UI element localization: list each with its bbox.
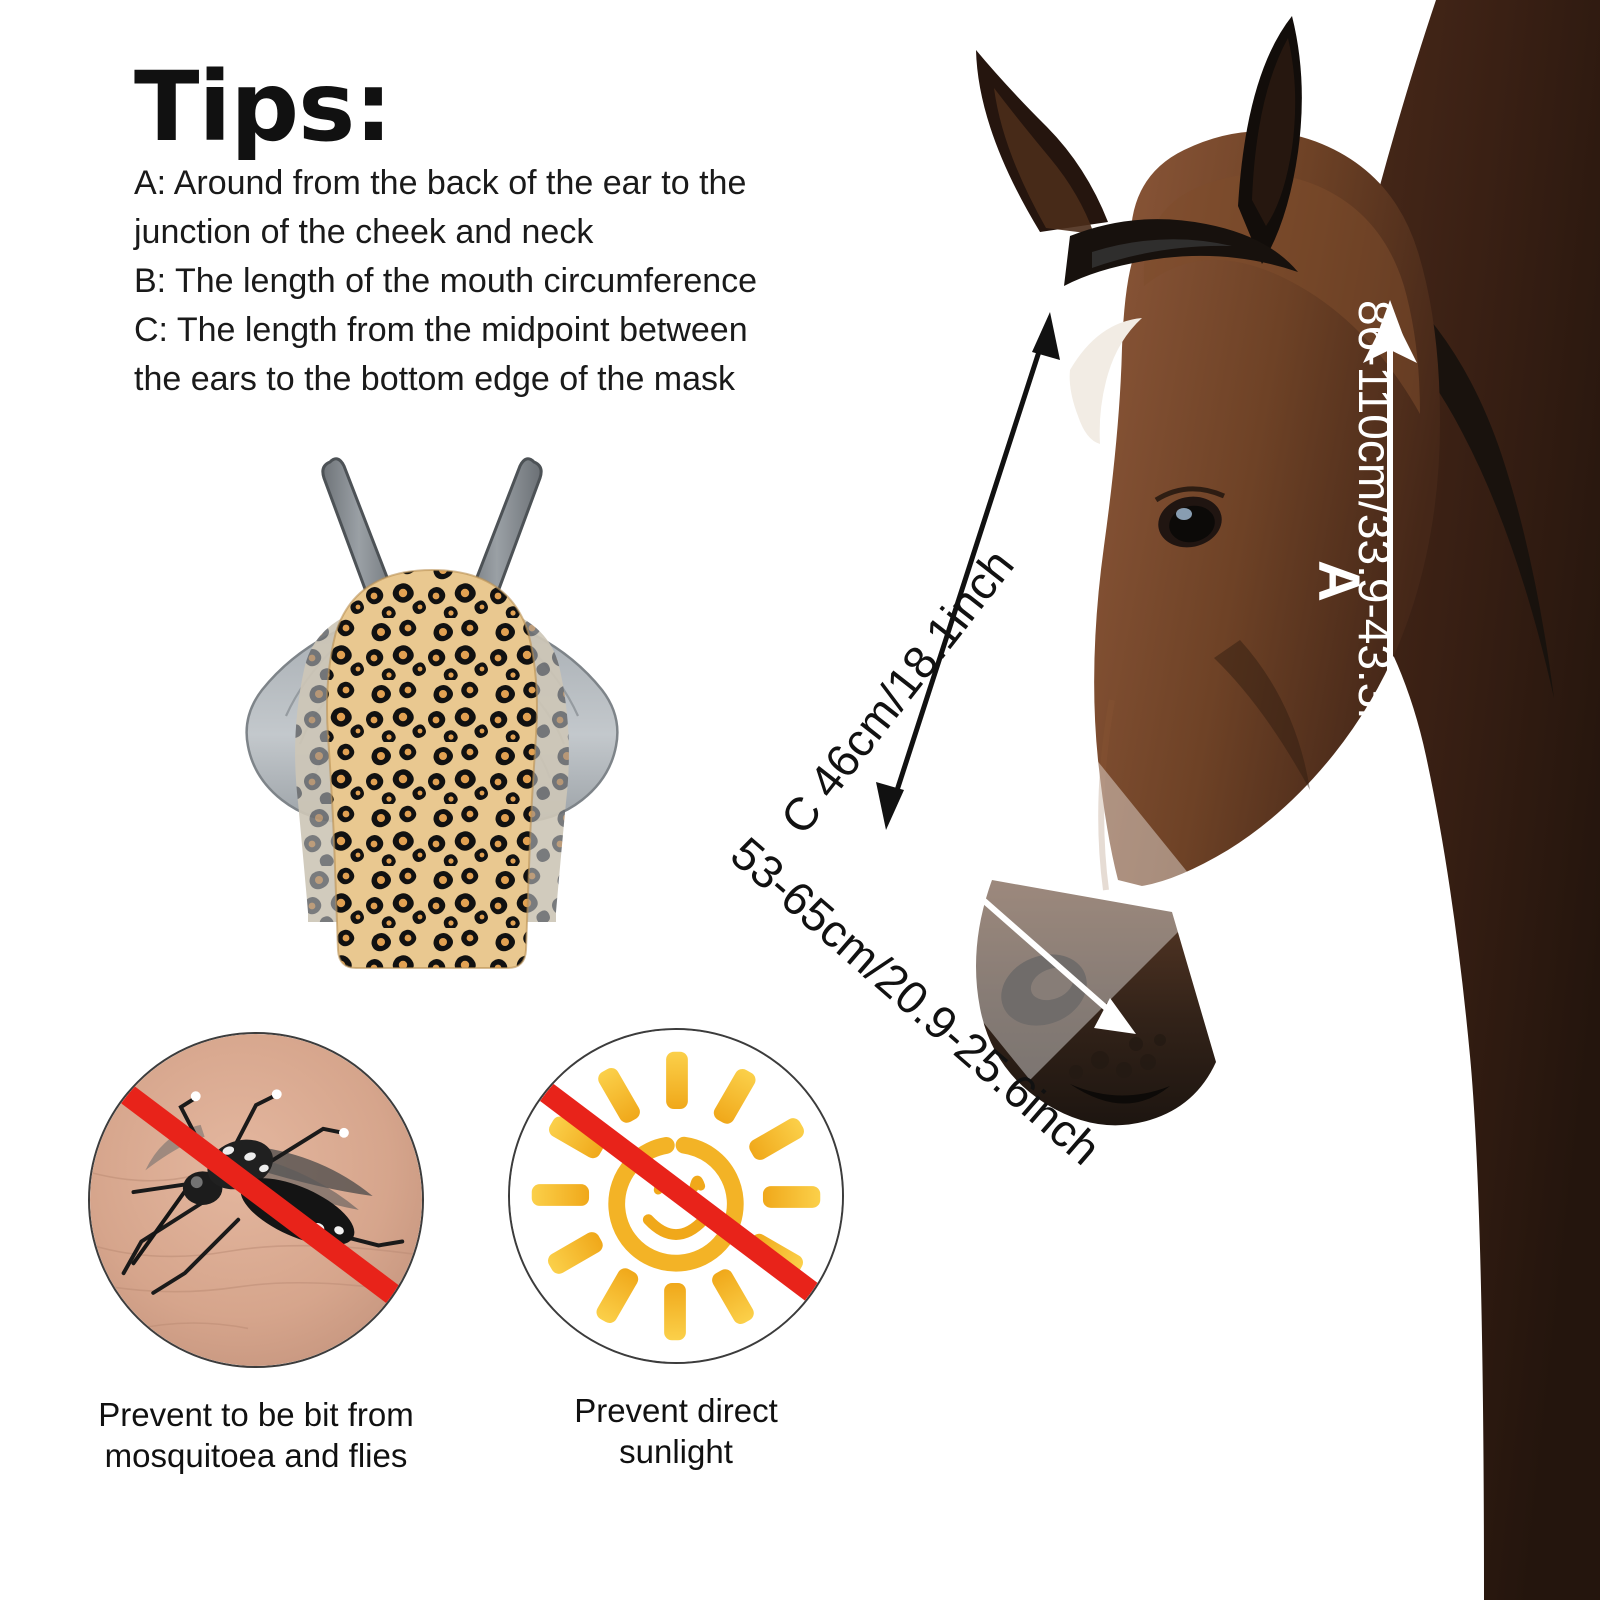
- page-title: Tips:: [134, 62, 834, 153]
- benefit-caption: Prevent to be bit from mosquitoea and fl…: [88, 1394, 424, 1476]
- tip-line: the ears to the bottom edge of the mask: [134, 355, 834, 404]
- mask-front-panel: [320, 562, 544, 1012]
- horse-measurement-diagram: [740, 0, 1600, 1600]
- benefit-mosquito: Prevent to be bit from mosquitoea and fl…: [88, 1032, 424, 1476]
- measurement-label-a: 86-110cm/33.9-43.3inch: [1348, 300, 1402, 793]
- tip-line: A: Around from the back of the ear to th…: [134, 159, 834, 208]
- tip-line: B: The length of the mouth circumference: [134, 257, 834, 306]
- tip-line: C: The length from the midpoint between: [134, 306, 834, 355]
- tips-lines: A: Around from the back of the ear to th…: [134, 159, 834, 404]
- product-size-infographic: Tips: A: Around from the back of the ear…: [0, 0, 1600, 1600]
- fly-mask-product-image: [240, 432, 624, 1012]
- benefit-circle: [88, 1032, 424, 1368]
- measurement-letter-a: A: [1305, 560, 1372, 602]
- tips-block: Tips: A: Around from the back of the ear…: [134, 62, 834, 404]
- tip-line: junction of the cheek and neck: [134, 208, 834, 257]
